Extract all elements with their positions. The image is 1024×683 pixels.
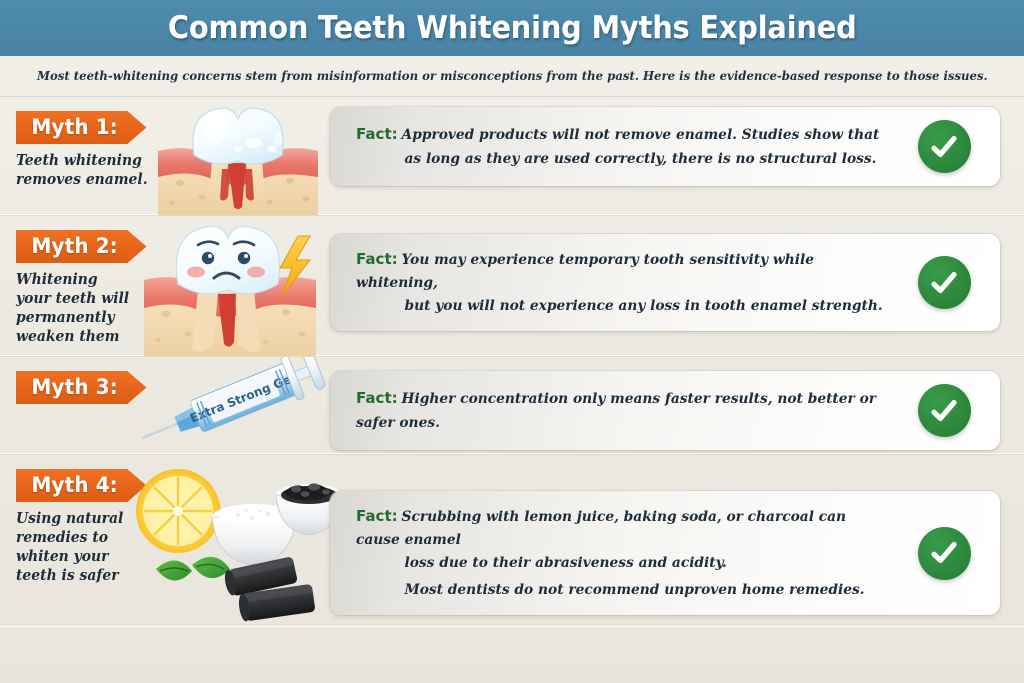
myth-banner: Myth 1: (16, 111, 146, 144)
syringe-label: Extra Strong Gel (188, 371, 297, 426)
fact-card: Fact:Higher concentration only means fas… (330, 371, 1000, 450)
check-mark-icon (927, 130, 961, 164)
myth-banner: Myth 2: (16, 230, 146, 263)
myth-left-column: Myth 2: Whitening your teeth will perman… (0, 216, 330, 347)
fact-text: Fact:You may experience temporary tooth … (356, 247, 886, 318)
fact-line: You may experience temporary tooth sensi… (356, 252, 814, 291)
myth-description: Whitening your teeth will permanently we… (16, 270, 129, 347)
fact-right-column: Fact:Scrubbing with lemon juice, baking … (330, 455, 1024, 627)
myth-description: Teeth whitening removes enamel. (16, 151, 184, 189)
fact-line: Approved products will not remove enamel… (402, 127, 880, 143)
fact-line: as long as they are used correctly, ther… (356, 148, 886, 171)
fact-line: Scrubbing with lemon juice, baking soda,… (356, 509, 846, 548)
myth-row: Myth 3: (0, 356, 1024, 454)
fact-text: Fact:Higher concentration only means fas… (356, 386, 886, 434)
verified-check (902, 384, 986, 437)
fact-right-column: Fact:Higher concentration only means fas… (330, 357, 1024, 462)
fact-text: Fact:Scrubbing with lemon juice, baking … (356, 504, 886, 602)
fact-card: Fact:Approved products will not remove e… (330, 107, 1000, 186)
myth-left-column: Myth 3: (0, 357, 330, 404)
page-title: Common Teeth Whitening Myths Explained (168, 10, 857, 46)
fact-line: Most dentists do not recommend unproven … (356, 575, 886, 602)
fact-right-column: Fact:Approved products will not remove e… (330, 97, 1024, 198)
check-circle-icon (918, 256, 971, 309)
lemon-baking-soda-charcoal-icon (126, 455, 341, 625)
myth-banner: Myth 4: (16, 469, 146, 502)
fact-label: Fact: (356, 125, 398, 143)
syringe-extra-strong-gel-icon: Extra Strong Gel (128, 357, 333, 449)
fact-right-column: Fact:You may experience temporary tooth … (330, 216, 1024, 343)
subtitle-lead: Most teeth-whitening (37, 68, 178, 83)
check-circle-icon (918, 384, 971, 437)
sad-tooth-with-lightning-bolt-icon (140, 218, 330, 356)
fact-label: Fact: (356, 389, 398, 407)
subtitle-rest: concerns stem from misinformation or mis… (178, 68, 987, 83)
check-circle-icon (918, 527, 971, 580)
myth-row: Myth 2: Whitening your teeth will perman… (0, 215, 1024, 356)
fact-line: loss due to their abrasiveness and acidi… (356, 552, 886, 575)
fact-label: Fact: (356, 507, 398, 525)
check-circle-icon (918, 120, 971, 173)
fact-text: Fact:Approved products will not remove e… (356, 122, 886, 170)
subtitle-text: Most teeth-whitening concerns stem from … (37, 68, 988, 83)
myth-row: Myth 1: Teeth whitening removes enamel. (0, 96, 1024, 215)
fact-line: but you will not experience any loss in … (356, 295, 886, 318)
myth-row: Myth 4: Using natural remedies to whiten… (0, 454, 1024, 627)
fact-line: Higher concentration only means faster r… (356, 391, 876, 430)
myth-left-column: Myth 4: Using natural remedies to whiten… (0, 455, 330, 586)
check-mark-icon (927, 394, 961, 428)
subtitle-band: Most teeth-whitening concerns stem from … (0, 56, 1024, 94)
header-bar: Common Teeth Whitening Myths Explained (0, 0, 1024, 56)
myth-rows: Myth 1: Teeth whitening removes enamel. (0, 96, 1024, 627)
myth-description: Using natural remedies to whiten your te… (16, 509, 150, 586)
fact-label: Fact: (356, 250, 398, 268)
infographic-root: Common Teeth Whitening Myths Explained M… (0, 0, 1024, 683)
myth-left-column: Myth 1: Teeth whitening removes enamel. (0, 97, 330, 189)
myth-banner: Myth 3: (16, 371, 146, 404)
fact-card: Fact:Scrubbing with lemon juice, baking … (330, 491, 1000, 615)
verified-check (902, 256, 986, 309)
fact-card: Fact:You may experience temporary tooth … (330, 234, 1000, 331)
check-mark-icon (927, 266, 961, 300)
verified-check (902, 120, 986, 173)
check-mark-icon (927, 536, 961, 570)
verified-check (902, 527, 986, 580)
